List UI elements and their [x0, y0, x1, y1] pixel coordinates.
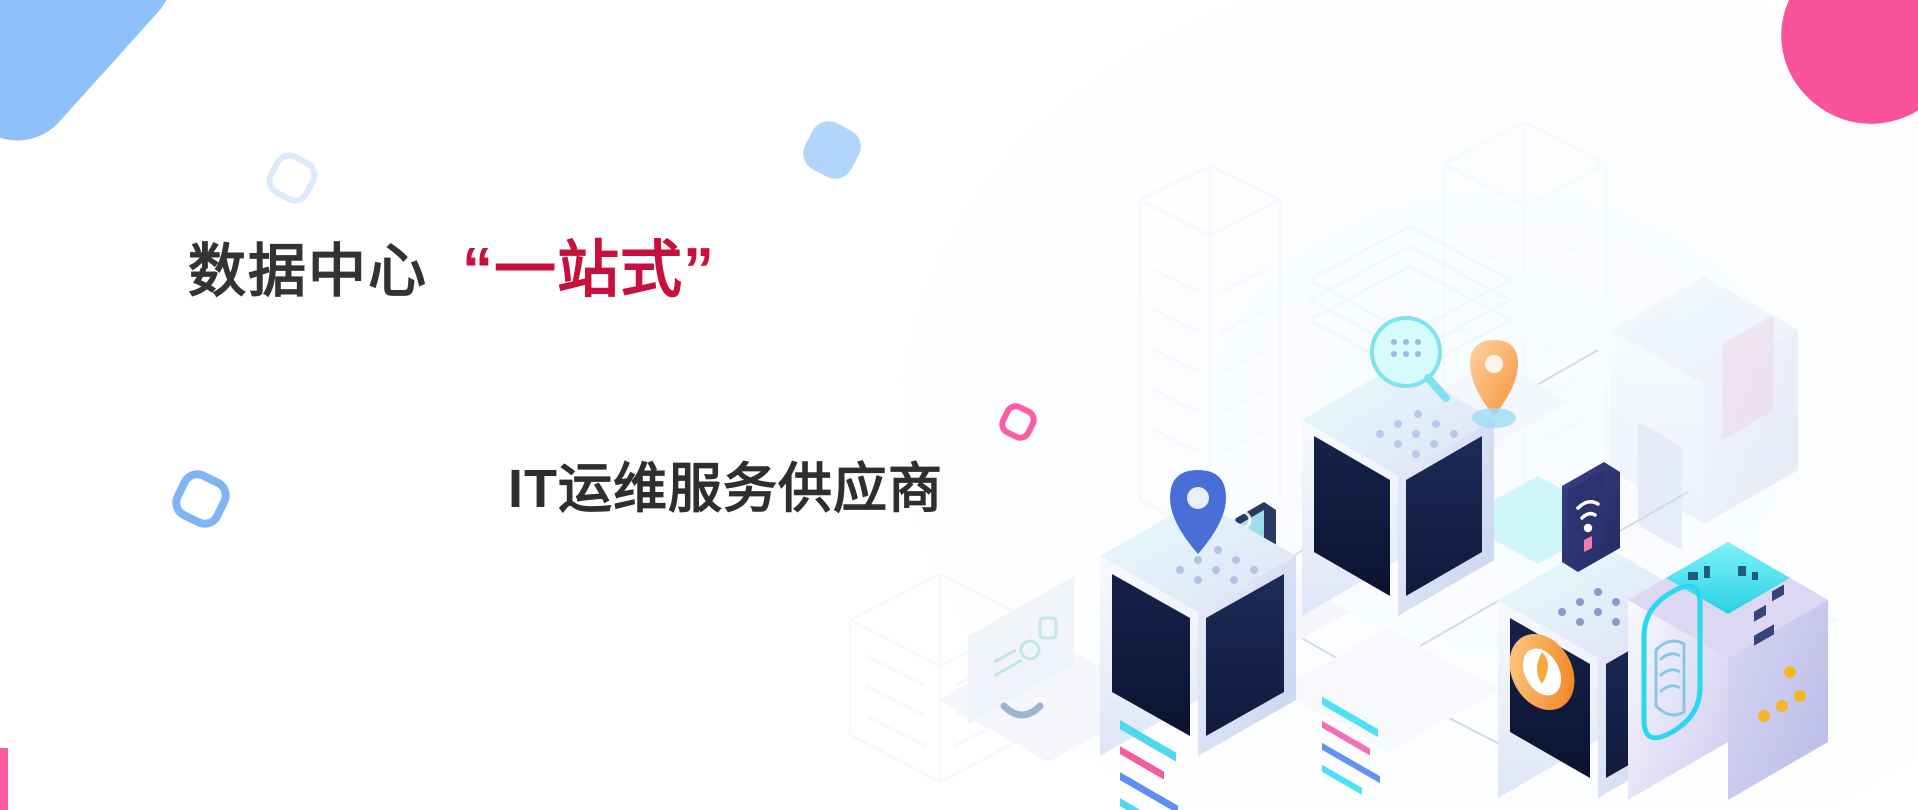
- headline-prefix: 数据中心: [188, 243, 428, 301]
- headline-line-2: IT运维服务供应商: [508, 462, 943, 516]
- server-rack-front-left: [1100, 0, 1296, 810]
- headline-accent: “一站式”: [462, 240, 715, 302]
- location-pin-orange-icon: [1470, 340, 1518, 428]
- datacenter-illustration: [898, 0, 1918, 810]
- server-rack-background-tall: [1610, 276, 1798, 551]
- headline-line-1: 数据中心 “一站式”: [188, 240, 715, 302]
- datacenter-illustration-svg: [898, 0, 1918, 810]
- headline-block: 数据中心 “一站式” IT运维服务供应商: [0, 0, 1040, 810]
- hero-banner: 数据中心 “一站式” IT运维服务供应商: [0, 0, 1918, 810]
